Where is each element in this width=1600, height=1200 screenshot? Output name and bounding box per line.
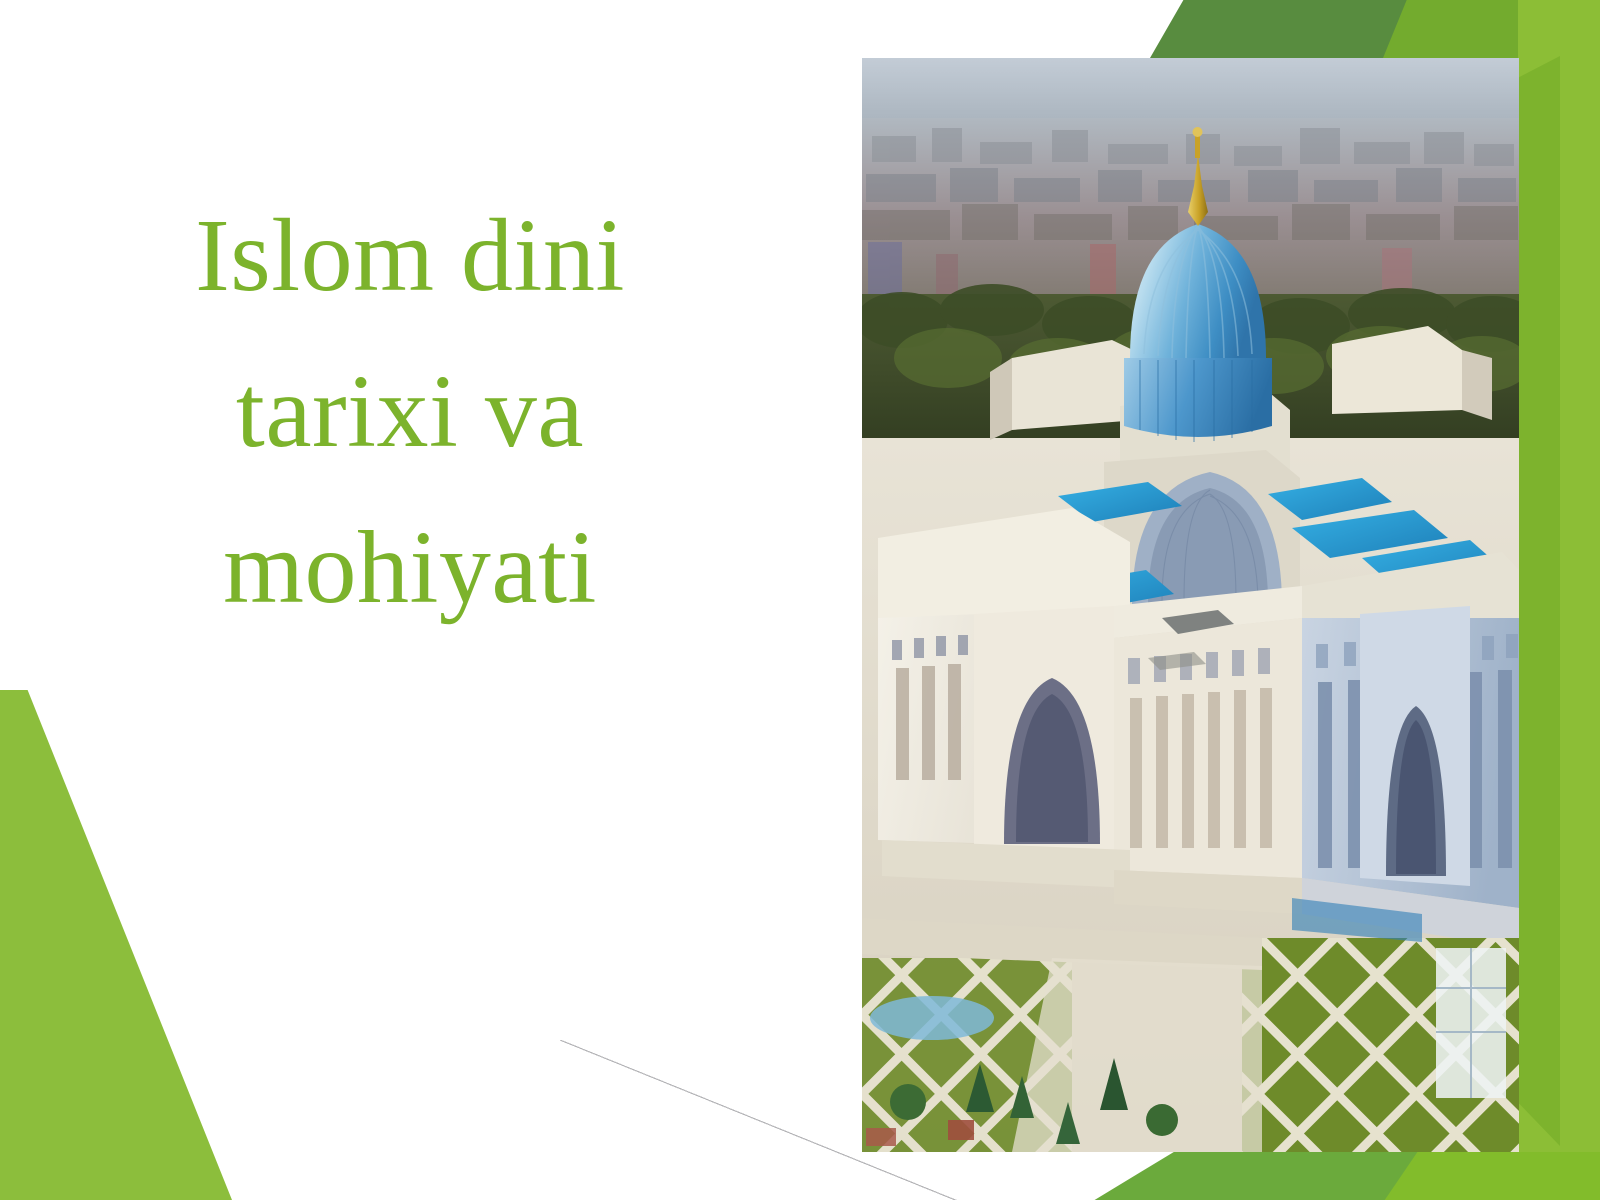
presentation-slide: Islom dini tarixi va mohiyati <box>0 0 1600 1200</box>
corner-wedge-icon <box>0 690 234 1200</box>
page-title: Islom dini tarixi va mohiyati <box>60 178 760 646</box>
right-edge-band-icon <box>1518 0 1600 1200</box>
corner-chevron-dark-icon <box>1150 0 1570 58</box>
corner-chevron-mid-icon <box>1088 1152 1478 1200</box>
right-edge-fold-icon <box>1518 56 1560 1146</box>
corner-chevron-bright-icon <box>1383 0 1600 58</box>
mosque-photo-graphic <box>862 58 1519 1152</box>
slide-title-placeholder[interactable]: Islom dini tarixi va mohiyati <box>60 178 760 646</box>
mosque-photo <box>862 58 1519 1152</box>
corner-chevron-bright-bottom-icon <box>1382 1152 1600 1200</box>
